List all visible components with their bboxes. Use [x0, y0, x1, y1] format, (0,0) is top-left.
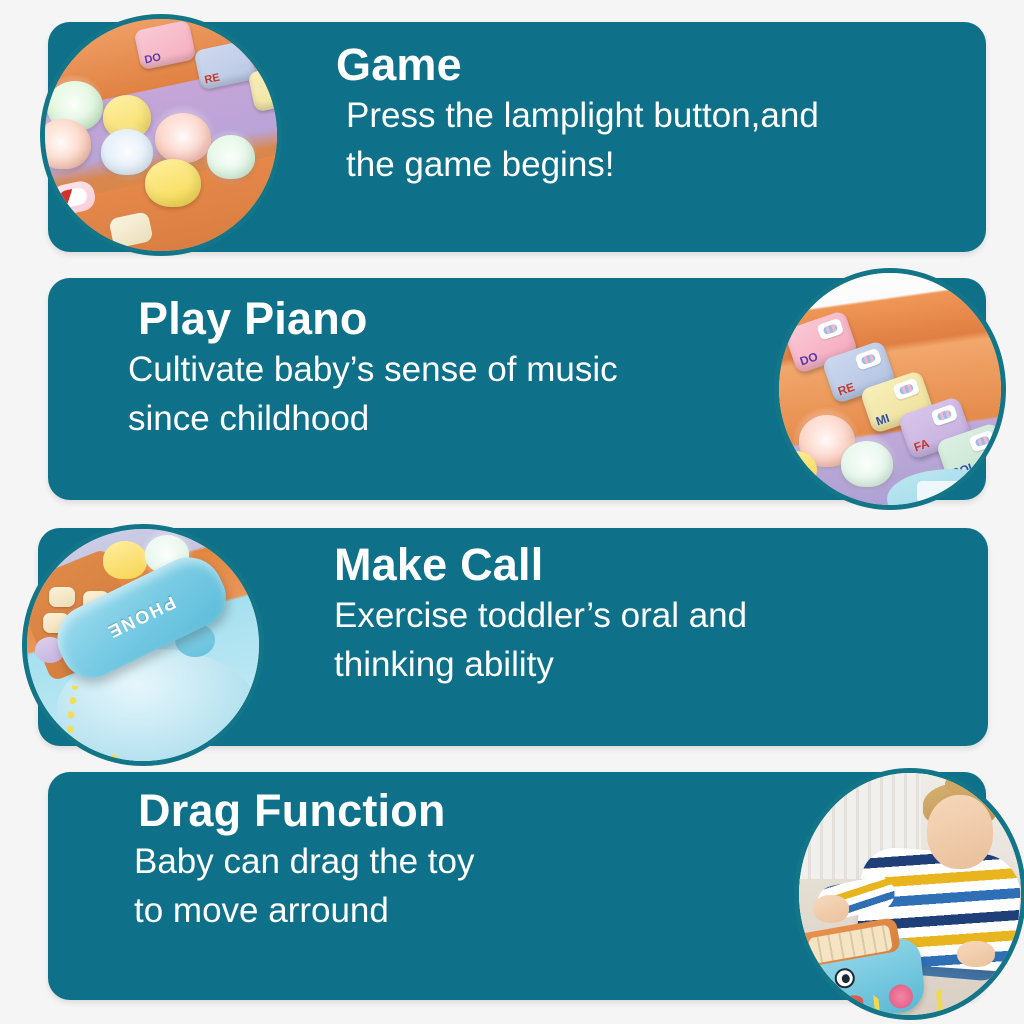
toddler-head: [927, 795, 993, 869]
toddler-hair-tuft: [945, 775, 969, 793]
light-dome-7-glow: [201, 129, 259, 185]
feature-image-make-call: PHONE: [22, 524, 264, 766]
piano-key-sol-sticker: [968, 430, 996, 453]
toy-phone-cord: [62, 685, 130, 762]
feature-body-drag-function-line1: Baby can drag the toy: [134, 838, 768, 886]
piano-keys-photo: DO RE MI FA SOL: [779, 273, 1001, 505]
piano-light-dome-2-glow: [835, 433, 899, 493]
piano-key-mi-sticker: [892, 378, 920, 401]
toy-phone-car-eye-left: [804, 972, 826, 994]
feature-body-make-call-line2: thinking ability: [334, 641, 960, 689]
feature-body-drag-function-line2: to move arround: [134, 887, 768, 935]
feature-text-play-piano: Play Piano Cultivate baby’s sense of mus…: [128, 294, 768, 443]
game-buttons-photo: DO RE: [45, 19, 277, 251]
feature-headline-play-piano: Play Piano: [138, 294, 768, 344]
feature-text-make-call: Make Call Exercise toddler’s oral and th…: [330, 540, 960, 689]
feature-body-game-line2: the game begins!: [346, 141, 962, 189]
feature-body-drag-function: Baby can drag the toy to move arround: [134, 838, 768, 935]
feature-body-game-line1: Press the lamplight button,and: [346, 92, 962, 140]
toy-phone-car-keypad: [808, 924, 893, 964]
piano-key-fa-sticker: [930, 404, 958, 427]
feature-headline-make-call: Make Call: [334, 540, 960, 590]
infographic-canvas: DO RE Game Press the lamplight button,an…: [0, 0, 1024, 1024]
feature-image-game: DO RE: [40, 14, 282, 256]
piano-key-re-label: RE: [836, 380, 856, 399]
piano-key-do-label: DO: [798, 349, 820, 368]
piano-key-do-sticker: [816, 318, 844, 341]
feature-image-drag-function: [794, 768, 1024, 1020]
toddler-playing-photo: [799, 773, 1021, 1015]
toy-phone-handset-label: PHONE: [103, 591, 179, 642]
toy-phone-minibutton-1: [49, 587, 75, 607]
feature-body-play-piano: Cultivate baby’s sense of music since ch…: [128, 346, 768, 443]
feature-body-game: Press the lamplight button,and the game …: [346, 92, 962, 189]
toddler-hand-left: [813, 895, 849, 923]
feature-body-make-call-line1: Exercise toddler’s oral and: [334, 592, 960, 640]
piano-key-fa-label: FA: [912, 436, 931, 454]
feature-text-game: Game Press the lamplight button,and the …: [332, 40, 962, 189]
light-dome-6: [145, 159, 201, 207]
feature-headline-drag-function: Drag Function: [138, 786, 768, 836]
piano-key-mi-label: MI: [874, 411, 891, 429]
piano-yellow-dome: [775, 451, 817, 489]
piano-key-re-sticker: [854, 348, 882, 371]
toy-phone-photo: PHONE: [27, 529, 259, 761]
feature-body-play-piano-line2: since childhood: [128, 395, 768, 443]
toddler-hand-right: [957, 941, 995, 967]
toy-phone-car-wheel-rear: [815, 1001, 841, 1020]
feature-body-make-call: Exercise toddler’s oral and thinking abi…: [334, 592, 960, 689]
feature-text-drag-function: Drag Function Baby can drag the toy to m…: [128, 786, 768, 935]
feature-headline-game: Game: [336, 40, 962, 90]
feature-body-play-piano-line1: Cultivate baby’s sense of music: [128, 346, 768, 394]
piano-base-label: [917, 481, 969, 503]
toy-phone-car-paw: [841, 994, 865, 1012]
feature-image-play-piano: DO RE MI FA SOL: [774, 268, 1006, 510]
toy-phone-car-eye-right: [834, 967, 856, 989]
